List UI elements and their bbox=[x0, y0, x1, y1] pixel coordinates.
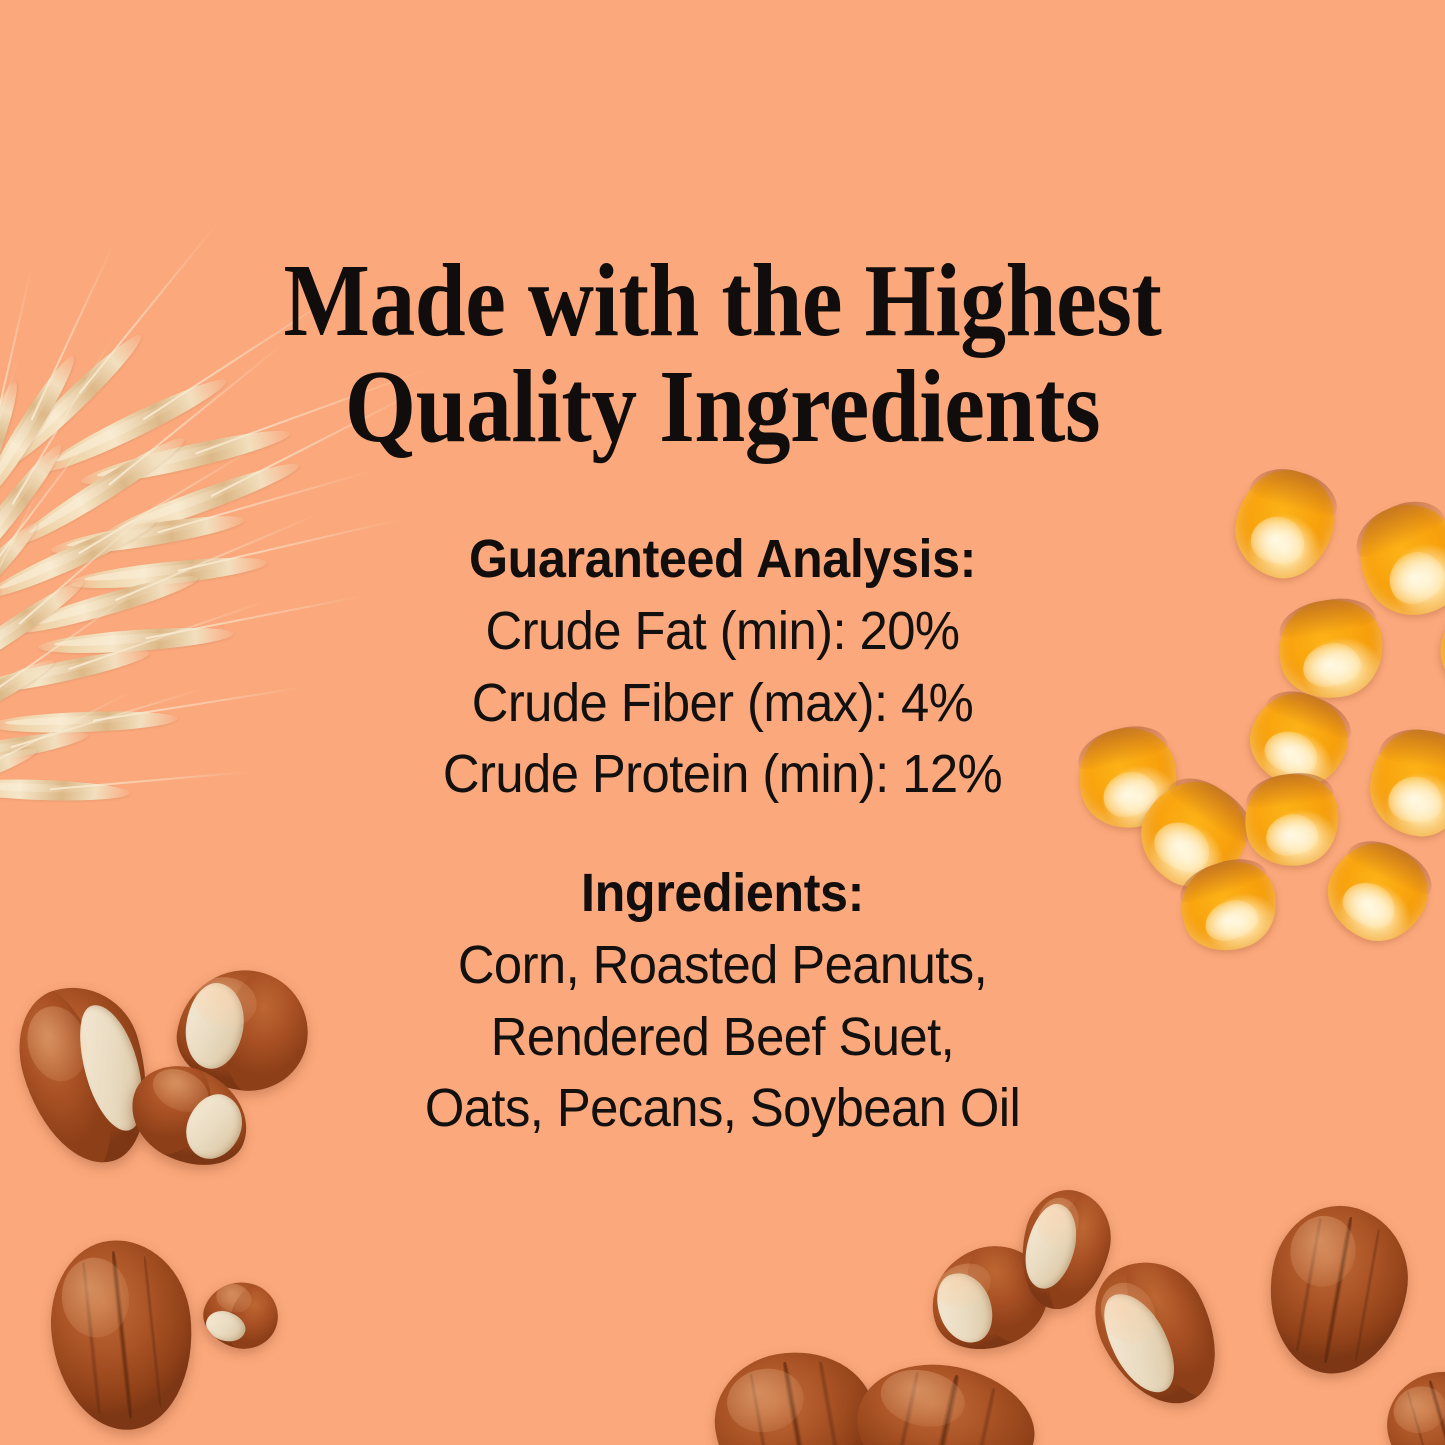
ingredients-section: Ingredients: Corn, Roasted Peanuts, Rend… bbox=[0, 862, 1445, 1145]
guaranteed-analysis-section: Guaranteed Analysis: Crude Fat (min): 20… bbox=[0, 528, 1445, 811]
guaranteed-analysis-list: Crude Fat (min): 20% Crude Fiber (max): … bbox=[43, 596, 1401, 811]
guaranteed-analysis-line: Crude Fiber (max): 4% bbox=[43, 668, 1401, 740]
headline-line-2: Quality Ingredients bbox=[87, 354, 1359, 460]
guaranteed-analysis-line: Crude Fat (min): 20% bbox=[43, 596, 1401, 668]
page-title: Made with the Highest Quality Ingredient… bbox=[87, 248, 1359, 460]
ingredients-heading: Ingredients: bbox=[51, 862, 1395, 926]
label-text-layer: Made with the Highest Quality Ingredient… bbox=[0, 0, 1445, 1445]
guaranteed-analysis-line: Crude Protein (min): 12% bbox=[43, 739, 1401, 811]
ingredients-line: Rendered Beef Suet, bbox=[43, 1002, 1401, 1074]
ingredients-line: Corn, Roasted Peanuts, bbox=[43, 930, 1401, 1002]
headline-line-1: Made with the Highest bbox=[87, 248, 1359, 354]
guaranteed-analysis-heading: Guaranteed Analysis: bbox=[51, 528, 1395, 592]
ingredients-list: Corn, Roasted Peanuts, Rendered Beef Sue… bbox=[43, 930, 1401, 1145]
ingredients-line: Oats, Pecans, Soybean Oil bbox=[43, 1073, 1401, 1145]
product-label-card: Made with the Highest Quality Ingredient… bbox=[0, 0, 1445, 1445]
